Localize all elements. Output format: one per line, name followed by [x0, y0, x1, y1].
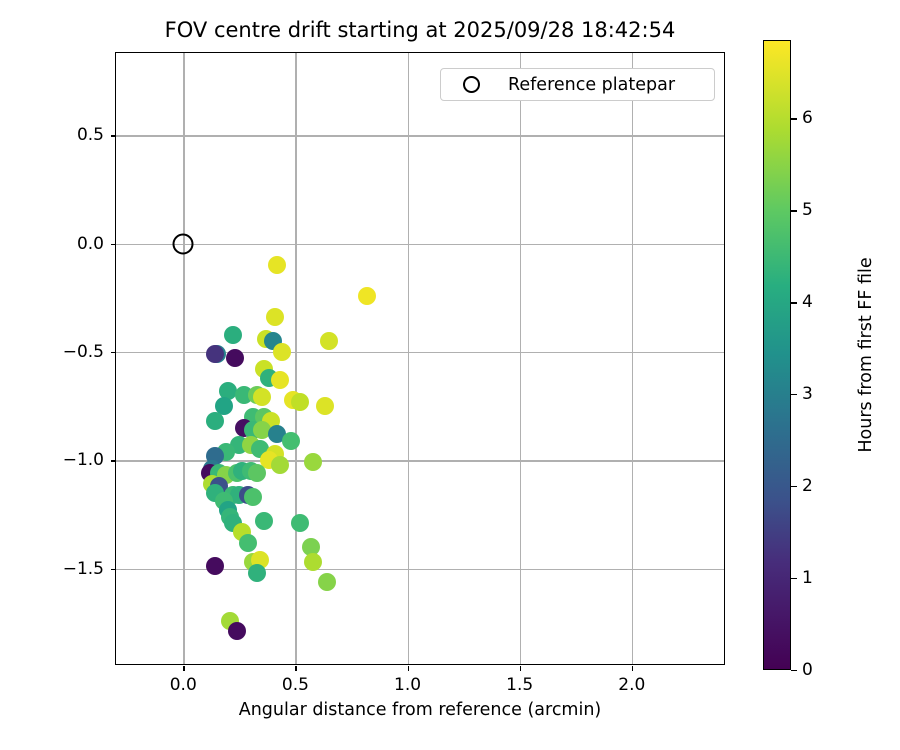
- scatter-point: [206, 345, 224, 363]
- y-tick-label: −1.5: [63, 559, 104, 579]
- scatter-point: [206, 412, 224, 430]
- x-tick: [295, 666, 296, 671]
- scatter-point: [268, 256, 286, 274]
- colorbar-tick-label: 0: [802, 660, 813, 680]
- reference-platepar-marker: [173, 233, 194, 254]
- scatter-point: [304, 553, 322, 571]
- scatter-point: [206, 557, 224, 575]
- gridline-vertical: [408, 53, 409, 664]
- x-tick-label: 1.0: [394, 675, 421, 695]
- x-tick-label: 0.5: [282, 675, 309, 695]
- scatter-point: [253, 388, 271, 406]
- colorbar-tick: [791, 670, 797, 671]
- x-tick-label: 0.0: [170, 675, 197, 695]
- scatter-point: [244, 488, 262, 506]
- y-tick-label: 0.5: [77, 125, 104, 145]
- colorbar-tick-label: 3: [802, 384, 813, 404]
- scatter-point: [320, 332, 338, 350]
- y-tick: [111, 352, 116, 353]
- chart-title: FOV centre drift starting at 2025/09/28 …: [0, 18, 840, 42]
- colorbar-tick: [791, 578, 797, 579]
- scatter-point: [239, 534, 257, 552]
- scatter-point: [291, 514, 309, 532]
- legend-label: Reference platepar: [508, 75, 675, 95]
- scatter-point: [224, 326, 242, 344]
- y-tick: [111, 244, 116, 245]
- y-tick: [111, 569, 116, 570]
- gridline-horizontal: [116, 244, 724, 245]
- colorbar-title: Hours from first FF file: [856, 257, 876, 452]
- colorbar-tick-label: 2: [802, 476, 813, 496]
- gridline-horizontal: [116, 135, 724, 136]
- y-tick-label: −0.5: [63, 342, 104, 362]
- scatter-point: [316, 397, 334, 415]
- scatter-point: [304, 453, 322, 471]
- scatter-point: [273, 343, 291, 361]
- x-tick: [632, 666, 633, 671]
- scatter-point: [318, 573, 336, 591]
- figure: FOV centre drift starting at 2025/09/28 …: [0, 0, 900, 750]
- colorbar-tick-label: 1: [802, 568, 813, 588]
- x-tick: [183, 666, 184, 671]
- gridline-vertical: [295, 53, 296, 664]
- scatter-point: [271, 371, 289, 389]
- legend-open-circle-icon: [463, 76, 480, 93]
- colorbar-tick-label: 6: [802, 108, 813, 128]
- scatter-point: [228, 622, 246, 640]
- scatter-point: [248, 464, 266, 482]
- x-tick: [520, 666, 521, 671]
- x-tick-label: 2.0: [618, 675, 645, 695]
- x-tick-label: 1.5: [506, 675, 533, 695]
- scatter-point: [266, 308, 284, 326]
- scatter-point: [226, 349, 244, 367]
- colorbar-tick: [791, 210, 797, 211]
- colorbar-tick: [791, 118, 797, 119]
- y-tick-label: −1.0: [63, 450, 104, 470]
- colorbar: [763, 40, 791, 670]
- y-tick-label: 0.0: [77, 234, 104, 254]
- y-tick: [111, 460, 116, 461]
- scatter-point: [282, 432, 300, 450]
- gridline-vertical: [520, 53, 521, 664]
- colorbar-tick: [791, 394, 797, 395]
- colorbar-tick-label: 5: [802, 200, 813, 220]
- plot-area: 0.00.51.01.52.00.50.0−0.5−1.0−1.5: [115, 52, 725, 665]
- scatter-point: [255, 512, 273, 530]
- x-axis-title: Angular distance from reference (arcmin): [115, 700, 725, 720]
- scatter-point: [291, 393, 309, 411]
- scatter-point: [358, 287, 376, 305]
- colorbar-tick-label: 4: [802, 292, 813, 312]
- gridline-vertical: [183, 53, 184, 664]
- x-tick: [408, 666, 409, 671]
- colorbar-tick: [791, 302, 797, 303]
- y-tick: [111, 135, 116, 136]
- legend: Reference platepar: [440, 68, 715, 101]
- scatter-point: [271, 456, 289, 474]
- scatter-point: [248, 564, 266, 582]
- colorbar-tick: [791, 486, 797, 487]
- gridline-vertical: [632, 53, 633, 664]
